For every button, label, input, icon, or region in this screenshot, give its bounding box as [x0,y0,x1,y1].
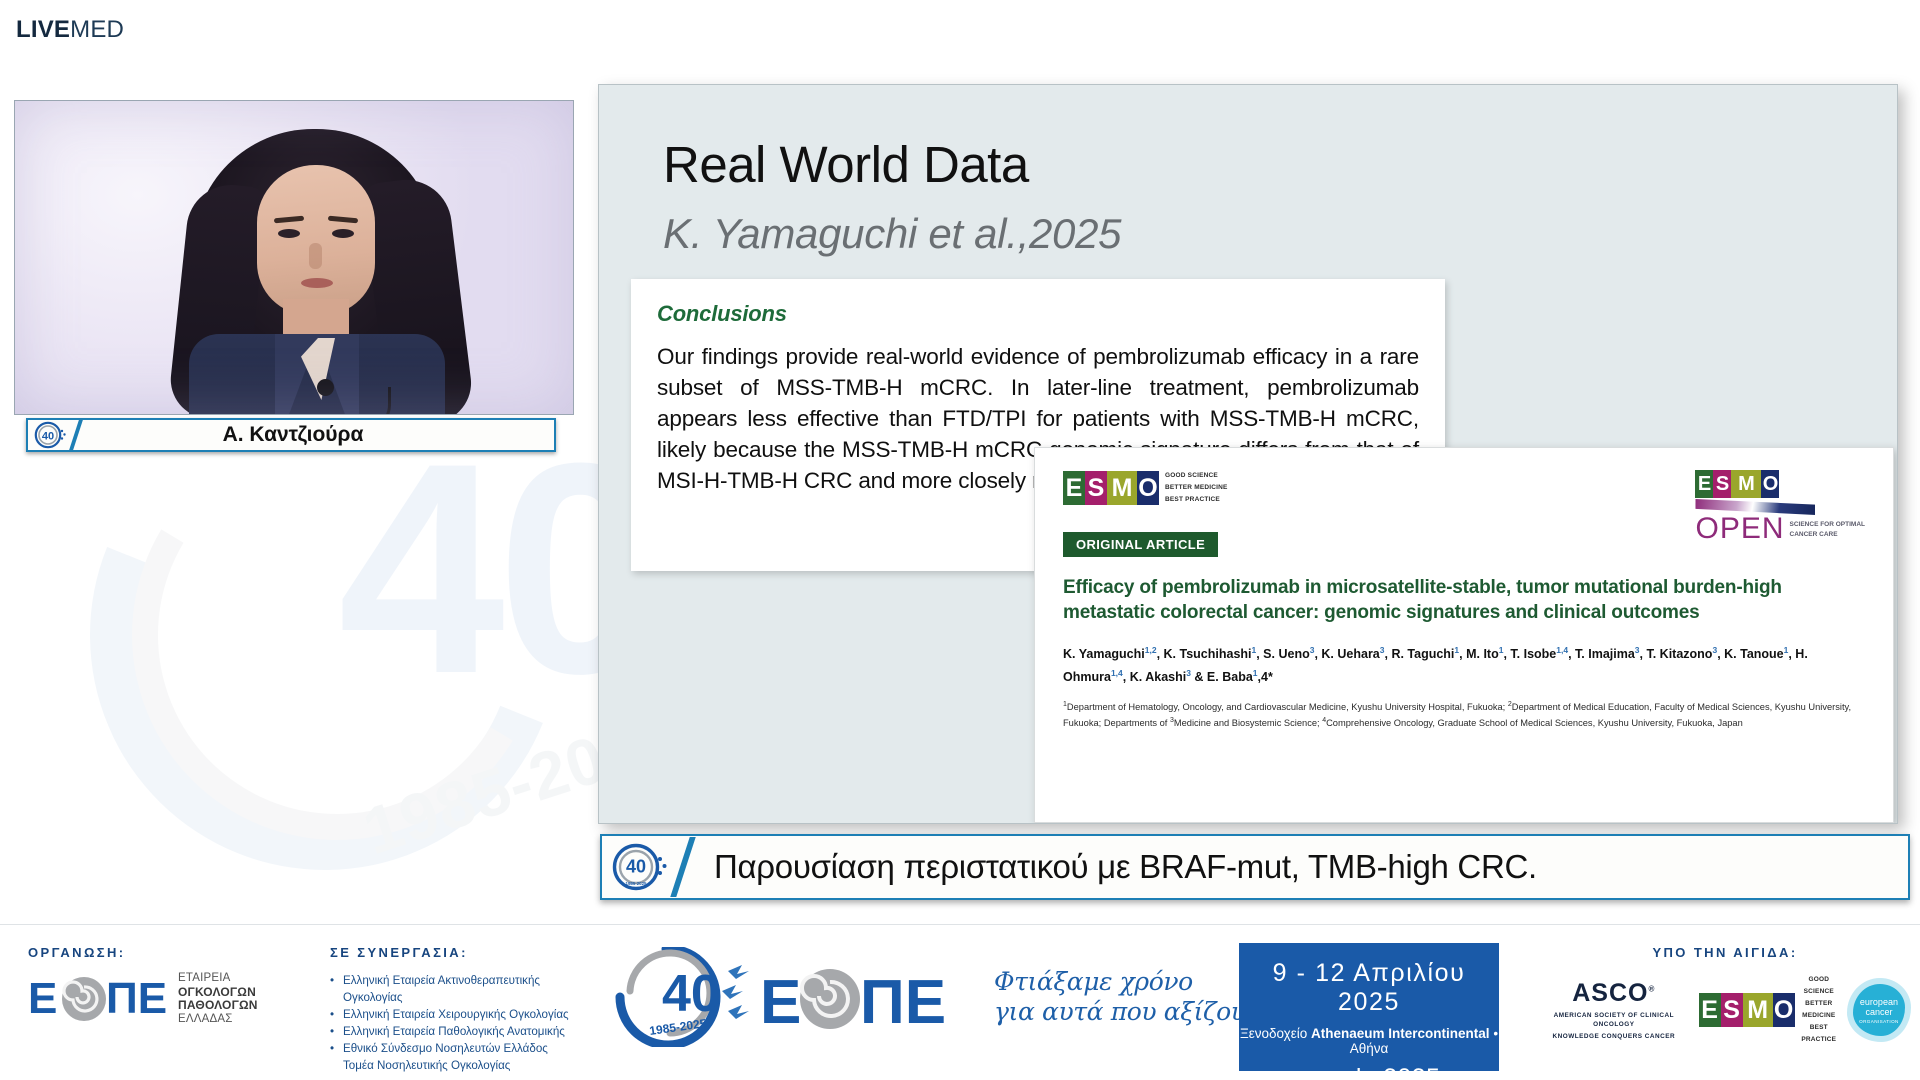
asco-logo: ASCO® AMERICAN SOCIETY OF CLINICAL ONCOL… [1545,979,1683,1041]
anniversary-slogan: Φτιάξαμε χρόνο για αυτά που αξίζουν [994,967,1260,1027]
esmo-aegis-letter-s: S [1721,993,1743,1027]
presentation-slide[interactable]: Real World Data K. Yamaguchi et al.,2025… [598,84,1898,824]
svg-text:40: 40 [626,857,646,877]
svg-text:E: E [28,975,57,1023]
collaboration-item: Ελληνική Εταιρεία Παθολογικής Ανατομικής [330,1023,600,1040]
esmo-open-mark-icon: E S M O [1695,470,1865,498]
venue-city: Αθήνα [1350,1041,1389,1056]
collaboration-list: Ελληνική Εταιρεία Ακτινοθεραπευτικής Ογκ… [330,972,600,1074]
collaboration-item: Ελληνική Εταιρεία Χειρουργικής Ογκολογία… [330,1006,600,1023]
esmo-open-word: OPEN [1695,515,1784,544]
session-caption-bar: 40 1985-2025 Παρουσίαση περιστατικού με … [600,834,1910,900]
svg-text:40: 40 [42,431,54,443]
slogan-line-2: για αυτά που αξίζουν [994,997,1260,1027]
eope-word-2: ΟΓΚΟΛΟΓΩΝ [178,986,258,1000]
venue-separator: • [1490,1026,1498,1041]
article-card: E S M O GOOD SCIENCE BETTER MEDICINE BES… [1034,447,1894,823]
conclusions-heading: Conclusions [657,301,1419,327]
eco-line-2: cancer [1865,1007,1892,1017]
esmo-letter-s: S [1085,471,1107,505]
venue-prefix: Ξενοδοχείο [1240,1026,1311,1041]
esmo-open-subtitle-line-2: CANCER CARE [1790,530,1865,540]
eco-line-1: european [1860,997,1898,1007]
asco-word-text: ASCO [1572,979,1648,1007]
esmo-open-letter-m: M [1731,470,1761,498]
svg-text:ΠΕ: ΠΕ [106,975,167,1023]
esmo-aegis-letter-m: M [1743,993,1773,1027]
speaker-video[interactable] [14,100,574,415]
svg-text:ΠΕ: ΠΕ [860,968,946,1037]
svg-text:1985-2025: 1985-2025 [626,881,648,886]
event-venue: Ξενοδοχείο Athenaeum Intercontinental • … [1239,1026,1499,1056]
eco-line-3: ORGANISATION [1859,1019,1899,1024]
asco-wordmark: ASCO® [1545,979,1683,1008]
session-caption-text: Παρουσίαση περιστατικού με BRAF-mut, TMB… [688,848,1908,886]
aegis-logos: ASCO® AMERICAN SOCIETY OF CLINICAL ONCOL… [1545,974,1905,1046]
esmo-aegis-logo: E S M O GOOD SCIENCE BETTER MEDICINE BES… [1699,974,1837,1046]
collaboration-item: Εθνικό Σύνδεσμο Νοσηλευτών Ελλάδος Τομέα… [330,1040,600,1074]
organizer-block: ΟΡΓΑΝΩΣΗ: E ΠΕ ΕΤΑΙΡΕΙΑ ΟΓΚΟΛΟΓΩΝ ΠΑΘΟΛΟ… [28,945,258,1026]
esmo-open-letter-o: O [1761,470,1779,498]
eope-logo-icon: E ΠΕ [28,975,168,1023]
collaboration-block: ΣΕ ΣΥΝΕΡΓΑΣΙΑ: Ελληνική Εταιρεία Ακτινοθ… [330,945,600,1074]
esmo-letter-o: O [1137,471,1159,505]
slide-title: Real World Data [663,135,1029,194]
event-website[interactable]: www.esko2025.gr [1239,1064,1499,1080]
asco-subtitle-1: AMERICAN SOCIETY OF CLINICAL ONCOLOGY [1545,1011,1683,1029]
esmo-tagline-line-1: GOOD SCIENCE [1165,470,1228,482]
article-authors: K. Yamaguchi1,2, K. Tsuchihashi1, S. Uen… [1063,641,1865,687]
collaboration-item: Ελληνική Εταιρεία Ακτινοθεραπευτικής Ογκ… [330,972,600,1006]
venue-name: Athenaeum Intercontinental [1311,1026,1490,1041]
asco-registered-icon: ® [1648,985,1655,994]
anniversary-eope-logo-icon: 40 1985-2025 E ΠΕ [610,947,980,1047]
esmo-aegis-tagline-line-1: GOOD SCIENCE [1801,974,1837,998]
esmo-aegis-tagline: GOOD SCIENCE BETTER MEDICINE BEST PRACTI… [1801,974,1837,1046]
esmo-tagline-line-2: BETTER MEDICINE [1165,482,1228,494]
asco-subtitle-2: KNOWLEDGE CONQUERS CANCER [1545,1032,1683,1041]
esmo-open-subtitle: SCIENCE FOR OPTIMAL CANCER CARE [1790,520,1865,544]
esmo-open-logo: E S M O OPEN SCIENCE FOR OPTIMAL CANCER … [1695,470,1865,544]
esmo-open-subtitle-line-1: SCIENCE FOR OPTIMAL [1790,520,1865,530]
event-date-box[interactable]: 9 - 12 Απριλίου 2025 Ξενοδοχείο Athenaeu… [1239,943,1499,1071]
esmo-open-letter-e: E [1695,470,1713,498]
article-header: E S M O GOOD SCIENCE BETTER MEDICINE BES… [1063,470,1865,557]
esmo-letter-e: E [1063,471,1085,505]
original-article-badge: ORIGINAL ARTICLE [1063,532,1218,557]
european-cancer-organisation-logo: european cancer ORGANISATION [1853,984,1905,1036]
eope-word-1: ΕΤΑΙΡΕΙΑ [178,972,258,986]
article-affiliations: 1Department of Hematology, Oncology, and… [1063,698,1865,730]
eope-fullname: ΕΤΑΙΡΕΙΑ ΟΓΚΟΛΟΓΩΝ ΠΑΘΟΛΟΓΩΝ ΕΛΛΑΔΑΣ [178,972,258,1026]
esmo-mark-icon: E S M O [1063,471,1159,505]
collaboration-label: ΣΕ ΣΥΝΕΡΓΑΣΙΑ: [330,945,600,960]
anniversary-badge-icon: 40 [28,421,74,449]
esmo-aegis-mark-icon: E S M O [1699,993,1795,1027]
eope-word-3: ΠΑΘΟΛΟΓΩΝ [178,999,258,1013]
aegis-label: ΥΠΟ ΤΗΝ ΑΙΓΙΔΑ: [1545,945,1905,960]
collaboration-item-line-2: Τομέα Νοσηλευτικής Ογκολογίας [343,1057,600,1074]
eope-word-4: ΕΛΛΑΔΑΣ [178,1013,258,1027]
slide-subtitle: K. Yamaguchi et al.,2025 [663,210,1121,258]
esmo-logo: E S M O GOOD SCIENCE BETTER MEDICINE BES… [1063,470,1228,557]
event-dates: 9 - 12 Απριλίου 2025 [1239,959,1499,1017]
speaker-name: Α. Καντζιούρα [80,423,554,447]
esmo-tagline: GOOD SCIENCE BETTER MEDICINE BEST PRACTI… [1165,470,1228,506]
organizer-label: ΟΡΓΑΝΩΣΗ: [28,945,258,960]
livemed-logo-bold: LIVE [16,16,70,43]
esmo-letter-m: M [1107,471,1137,505]
esmo-tagline-line-3: BEST PRACTICE [1165,494,1228,506]
svg-text:E: E [760,968,801,1037]
esmo-aegis-letter-e: E [1699,993,1721,1027]
speaker-name-bar: 40 Α. Καντζιούρα [26,418,556,452]
esmo-open-letter-s: S [1713,470,1731,498]
esmo-aegis-letter-o: O [1773,993,1795,1027]
anniversary-logo-block: 40 1985-2025 E ΠΕ Φτιάξαμε χρόνο για αυτ… [610,947,1260,1047]
broadcast-stage: 40 1985-2025 LIVEMED [0,0,1920,1080]
sponsor-footer: ΟΡΓΑΝΩΣΗ: E ΠΕ ΕΤΑΙΡΕΙΑ ΟΓΚΟΛΟΓΩΝ ΠΑΘΟΛΟ… [0,924,1920,1080]
svg-text:40: 40 [662,965,720,1023]
livemed-logo[interactable]: LIVEMED [16,16,124,44]
slogan-line-1: Φτιάξαμε χρόνο [994,967,1260,997]
caption-anniversary-badge-icon: 40 1985-2025 [602,842,680,892]
aegis-block: ΥΠΟ ΤΗΝ ΑΙΓΙΔΑ: ASCO® AMERICAN SOCIETY O… [1545,945,1905,1046]
livemed-logo-light: MED [70,16,124,43]
esmo-aegis-tagline-line-2: BETTER MEDICINE [1801,998,1837,1022]
eope-logo: E ΠΕ ΕΤΑΙΡΕΙΑ ΟΓΚΟΛΟΓΩΝ ΠΑΘΟΛΟΓΩΝ ΕΛΛΑΔΑ… [28,972,258,1026]
article-title: Efficacy of pembrolizumab in microsatell… [1063,575,1865,625]
collaboration-item-line-1: Εθνικό Σύνδεσμο Νοσηλευτών Ελλάδος [343,1042,548,1055]
esmo-aegis-tagline-line-3: BEST PRACTICE [1801,1022,1837,1046]
